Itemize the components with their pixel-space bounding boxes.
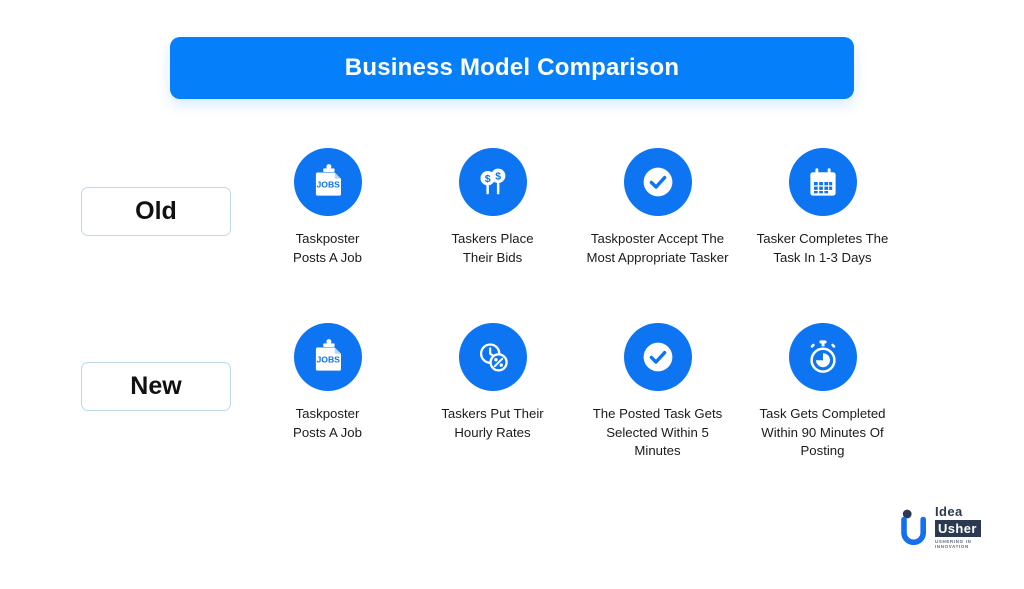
step-old-2-caption: Taskers PlaceTheir Bids: [451, 230, 533, 267]
step-new-4-circle: [789, 323, 857, 391]
step-new-2-caption: Taskers Put TheirHourly Rates: [441, 405, 543, 442]
step-new-2: Taskers Put TheirHourly Rates: [410, 323, 575, 461]
steps-row-old: JOBS TaskposterPosts A Job $ $ Taskers P…: [245, 148, 1015, 267]
money-bids-icon: $ $: [475, 164, 511, 200]
step-old-4: Tasker Completes TheTask In 1-3 Days: [740, 148, 905, 267]
step-old-3-circle: [624, 148, 692, 216]
stopwatch-icon: [804, 338, 842, 376]
svg-text:$: $: [495, 171, 501, 183]
page-title: Business Model Comparison: [345, 54, 679, 82]
step-old-4-caption: Tasker Completes TheTask In 1-3 Days: [757, 230, 889, 267]
row-label-old: Old: [81, 187, 231, 236]
row-label-old-text: Old: [135, 197, 177, 226]
svg-text:JOBS: JOBS: [316, 354, 340, 364]
step-old-4-circle: [789, 148, 857, 216]
row-label-new: New: [81, 362, 231, 411]
logo-name-usher: Usher: [935, 520, 981, 537]
step-new-1-caption: TaskposterPosts A Job: [293, 405, 362, 442]
step-new-1: JOBS TaskposterPosts A Job: [245, 323, 410, 461]
logo-u-mark-icon: [900, 508, 934, 551]
step-old-1-caption: TaskposterPosts A Job: [293, 230, 362, 267]
step-old-1: JOBS TaskposterPosts A Job: [245, 148, 410, 267]
header-banner: Business Model Comparison: [170, 37, 854, 99]
svg-text:$: $: [484, 173, 490, 185]
step-new-3-caption: The Posted Task GetsSelected Within 5Min…: [593, 405, 723, 461]
logo-name-idea: Idea: [935, 505, 1005, 519]
step-old-1-circle: JOBS: [294, 148, 362, 216]
check-circle-icon: [638, 162, 678, 202]
idea-usher-logo: Idea Usher USHERING IN INNOVATION: [900, 505, 1004, 547]
step-new-3-circle: [624, 323, 692, 391]
steps-row-new: JOBS TaskposterPosts A Job Taskers Put T…: [245, 323, 1015, 461]
check-circle-icon: [638, 337, 678, 377]
step-old-2-circle: $ $: [459, 148, 527, 216]
job-post-document-icon: JOBS: [310, 339, 346, 375]
step-old-3-caption: Taskposter Accept TheMost Appropriate Ta…: [587, 230, 729, 267]
logo-text-block: Idea Usher USHERING IN INNOVATION: [935, 505, 1005, 549]
step-new-4: Task Gets CompletedWithin 90 Minutes OfP…: [740, 323, 905, 461]
step-new-2-circle: [459, 323, 527, 391]
clock-percent-icon: [475, 339, 511, 375]
calendar-icon: [805, 164, 841, 200]
step-old-2: $ $ Taskers PlaceTheir Bids: [410, 148, 575, 267]
step-new-3: The Posted Task GetsSelected Within 5Min…: [575, 323, 740, 461]
job-post-document-icon: JOBS: [310, 164, 346, 200]
logo-tagline: USHERING IN INNOVATION: [935, 539, 1005, 549]
step-new-4-caption: Task Gets CompletedWithin 90 Minutes OfP…: [759, 405, 885, 461]
row-label-new-text: New: [130, 372, 181, 401]
step-new-1-circle: JOBS: [294, 323, 362, 391]
step-old-3: Taskposter Accept TheMost Appropriate Ta…: [575, 148, 740, 267]
svg-text:JOBS: JOBS: [316, 179, 340, 189]
